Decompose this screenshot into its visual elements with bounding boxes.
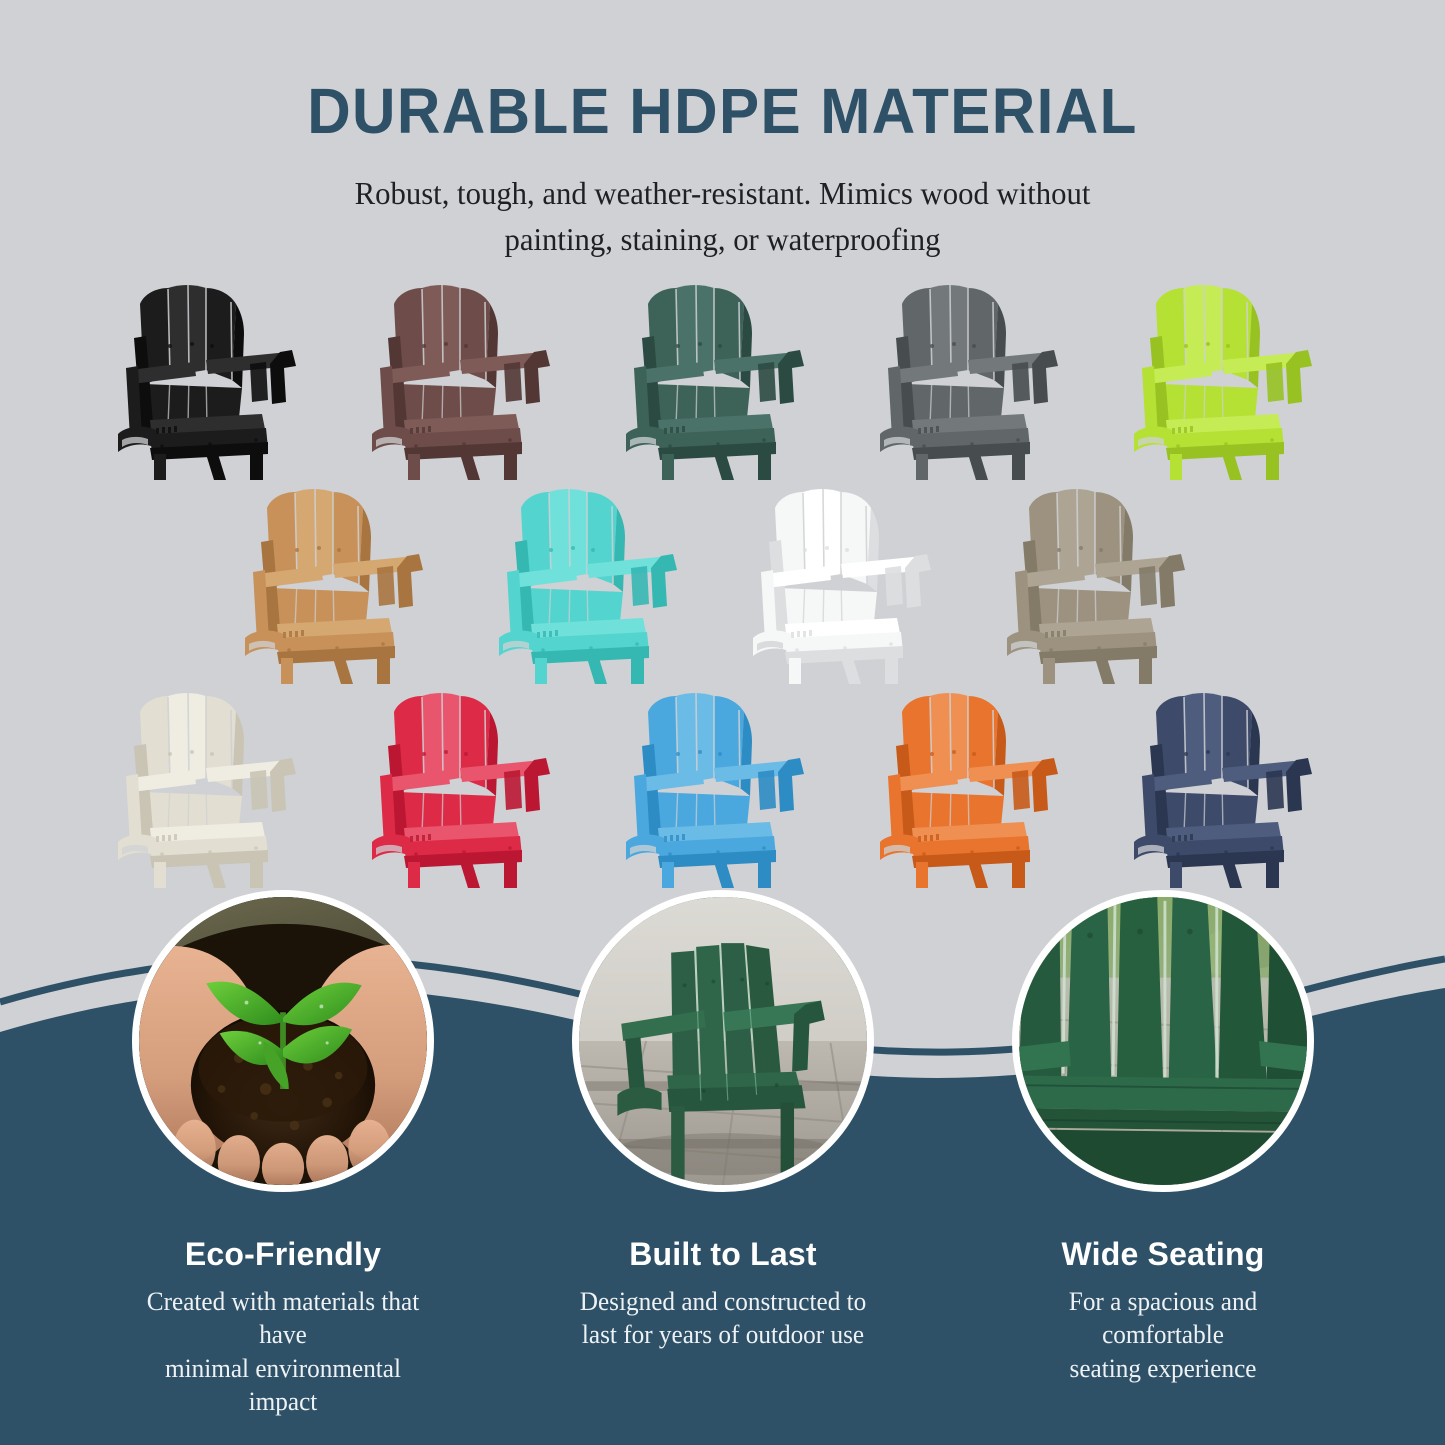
chair-swatch-gray[interactable] xyxy=(872,268,1082,480)
chair-swatch-turquoise[interactable] xyxy=(491,472,701,684)
chair-swatch-orange[interactable] xyxy=(872,676,1082,888)
chair-swatch-ivory[interactable] xyxy=(110,676,320,888)
feature-desc-line-1: Created with materials that have xyxy=(137,1285,430,1352)
chair-color-grid xyxy=(0,268,1445,888)
subtitle-line-1: Robust, tough, and weather-resistant. Mi… xyxy=(29,171,1416,216)
green-chair-patio-photo xyxy=(579,897,867,1185)
adirondack-chair-illustration xyxy=(872,676,1082,888)
header: DURABLE HDPE MATERIAL Robust, tough, and… xyxy=(0,0,1445,262)
chair-swatch-teak[interactable] xyxy=(237,472,447,684)
feature-title: Wide Seating xyxy=(1012,1236,1314,1273)
green-chair-wide-seat-photo xyxy=(1019,897,1307,1185)
adirondack-chair-illustration xyxy=(237,472,447,684)
chair-swatch-red[interactable] xyxy=(364,676,574,888)
chair-swatch-white[interactable] xyxy=(745,472,955,684)
chair-swatch-navy-blue[interactable] xyxy=(1126,676,1336,888)
feature-list: Eco-Friendly Created with materials that… xyxy=(0,890,1445,1445)
chair-row-2 xyxy=(0,472,1445,684)
chair-swatch-dark-green[interactable] xyxy=(618,268,828,480)
feature-desc-line-1: For a spacious and comfortable xyxy=(1017,1285,1310,1352)
chair-swatch-brown[interactable] xyxy=(364,268,574,480)
feature-image-wide-seating xyxy=(1012,890,1314,1192)
adirondack-chair-illustration xyxy=(364,676,574,888)
adirondack-chair-illustration xyxy=(1126,268,1336,480)
chair-swatch-black[interactable] xyxy=(110,268,320,480)
chair-swatch-lime-green[interactable] xyxy=(1126,268,1336,480)
adirondack-chair-illustration xyxy=(618,676,828,888)
adirondack-chair-illustration xyxy=(745,472,955,684)
feature-item-wide-seating: Wide Seating For a spacious and comforta… xyxy=(1012,890,1314,1385)
chair-swatch-taupe[interactable] xyxy=(999,472,1209,684)
page-subtitle: Robust, tough, and weather-resistant. Mi… xyxy=(29,171,1416,262)
feature-title: Built to Last xyxy=(572,1236,874,1273)
adirondack-chair-illustration xyxy=(1126,676,1336,888)
adirondack-chair-illustration xyxy=(872,268,1082,480)
feature-title: Eco-Friendly xyxy=(132,1236,434,1273)
hands-soil-seedling-icon xyxy=(139,897,427,1185)
adirondack-chair-illustration xyxy=(364,268,574,480)
feature-image-built-to-last xyxy=(572,890,874,1192)
feature-desc-line-1: Designed and constructed to xyxy=(577,1285,870,1318)
feature-desc-line-2: seating experience xyxy=(1017,1352,1310,1385)
feature-item-eco-friendly: Eco-Friendly Created with materials that… xyxy=(132,890,434,1418)
feature-description: For a spacious and comfortable seating e… xyxy=(1017,1285,1310,1385)
feature-item-built-to-last: Built to Last Designed and constructed t… xyxy=(572,890,874,1352)
adirondack-chair-illustration xyxy=(999,472,1209,684)
adirondack-chair-illustration xyxy=(110,676,320,888)
adirondack-chair-illustration xyxy=(110,268,320,480)
infographic-canvas: DURABLE HDPE MATERIAL Robust, tough, and… xyxy=(0,0,1445,1445)
feature-image-eco-friendly xyxy=(132,890,434,1192)
feature-description: Created with materials that have minimal… xyxy=(137,1285,430,1418)
feature-description: Designed and constructed to last for yea… xyxy=(577,1285,870,1352)
adirondack-chair-illustration xyxy=(618,268,828,480)
subtitle-line-2: painting, staining, or waterproofing xyxy=(29,217,1416,262)
chair-row-1 xyxy=(0,268,1445,480)
feature-desc-line-2: last for years of outdoor use xyxy=(577,1318,870,1351)
chair-swatch-light-blue[interactable] xyxy=(618,676,828,888)
feature-desc-line-2: minimal environmental impact xyxy=(137,1352,430,1419)
page-title: DURABLE HDPE MATERIAL xyxy=(43,78,1401,145)
chair-row-3 xyxy=(0,676,1445,888)
adirondack-chair-illustration xyxy=(491,472,701,684)
